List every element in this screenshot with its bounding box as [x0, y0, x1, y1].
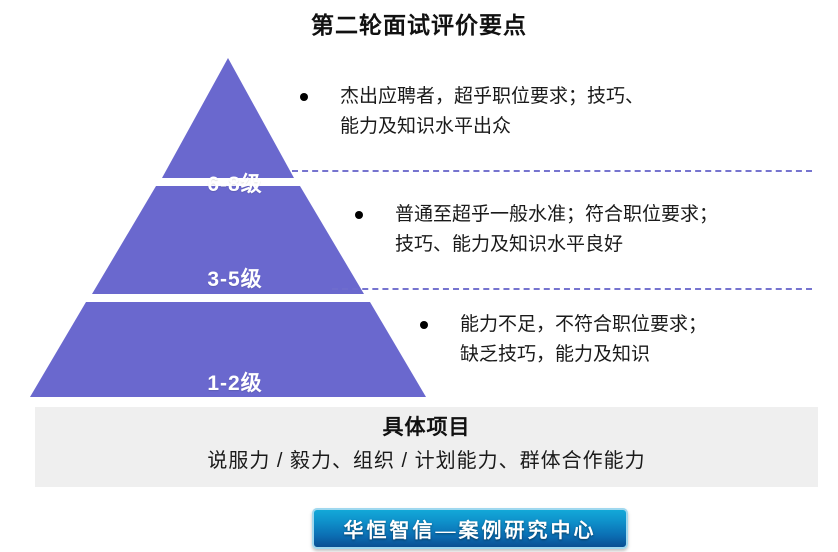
detail-items-title: 具体项目: [35, 412, 818, 444]
bullet-dot-icon: [420, 321, 428, 329]
divider-line-middle: [332, 288, 812, 290]
pyramid-tier-top-label: 6-8级: [170, 168, 300, 198]
detail-items-panel: 具体项目 说服力 / 毅力、组织 / 计划能力、群体合作能力: [35, 407, 818, 487]
slide-canvas: 第二轮面试评价要点 6-8级 3-5级 1-2级 杰出应聘者，超乎职位要求；技巧…: [0, 0, 838, 552]
bullet-dot-icon: [355, 211, 363, 219]
pyramid-tier-middle-label: 3-5级: [160, 263, 310, 293]
page-title: 第二轮面试评价要点: [0, 10, 838, 40]
pyramid-tier-bottom-label: 1-2级: [160, 367, 310, 397]
brand-banner-text: 华恒智信—案例研究中心: [344, 514, 597, 543]
bullet-text-top: 杰出应聘者，超乎职位要求；技巧、 能力及知识水平出众: [340, 82, 644, 142]
divider-line-top: [292, 170, 812, 172]
brand-banner[interactable]: 华恒智信—案例研究中心: [312, 508, 628, 549]
bullet-text-middle: 普通至超乎一般水准；符合职位要求； 技巧、能力及知识水平良好: [395, 200, 718, 260]
bullet-text-bottom: 能力不足，不符合职位要求； 缺乏技巧，能力及知识: [460, 310, 707, 370]
bullet-item-middle: 普通至超乎一般水准；符合职位要求； 技巧、能力及知识水平良好: [355, 200, 825, 260]
detail-items-subtitle: 说服力 / 毅力、组织 / 计划能力、群体合作能力: [35, 444, 818, 478]
bullet-item-bottom: 能力不足，不符合职位要求； 缺乏技巧，能力及知识: [420, 310, 820, 370]
pyramid-tier-top[interactable]: [162, 58, 294, 178]
bullet-item-top: 杰出应聘者，超乎职位要求；技巧、 能力及知识水平出众: [300, 82, 800, 142]
bullet-dot-icon: [300, 93, 308, 101]
